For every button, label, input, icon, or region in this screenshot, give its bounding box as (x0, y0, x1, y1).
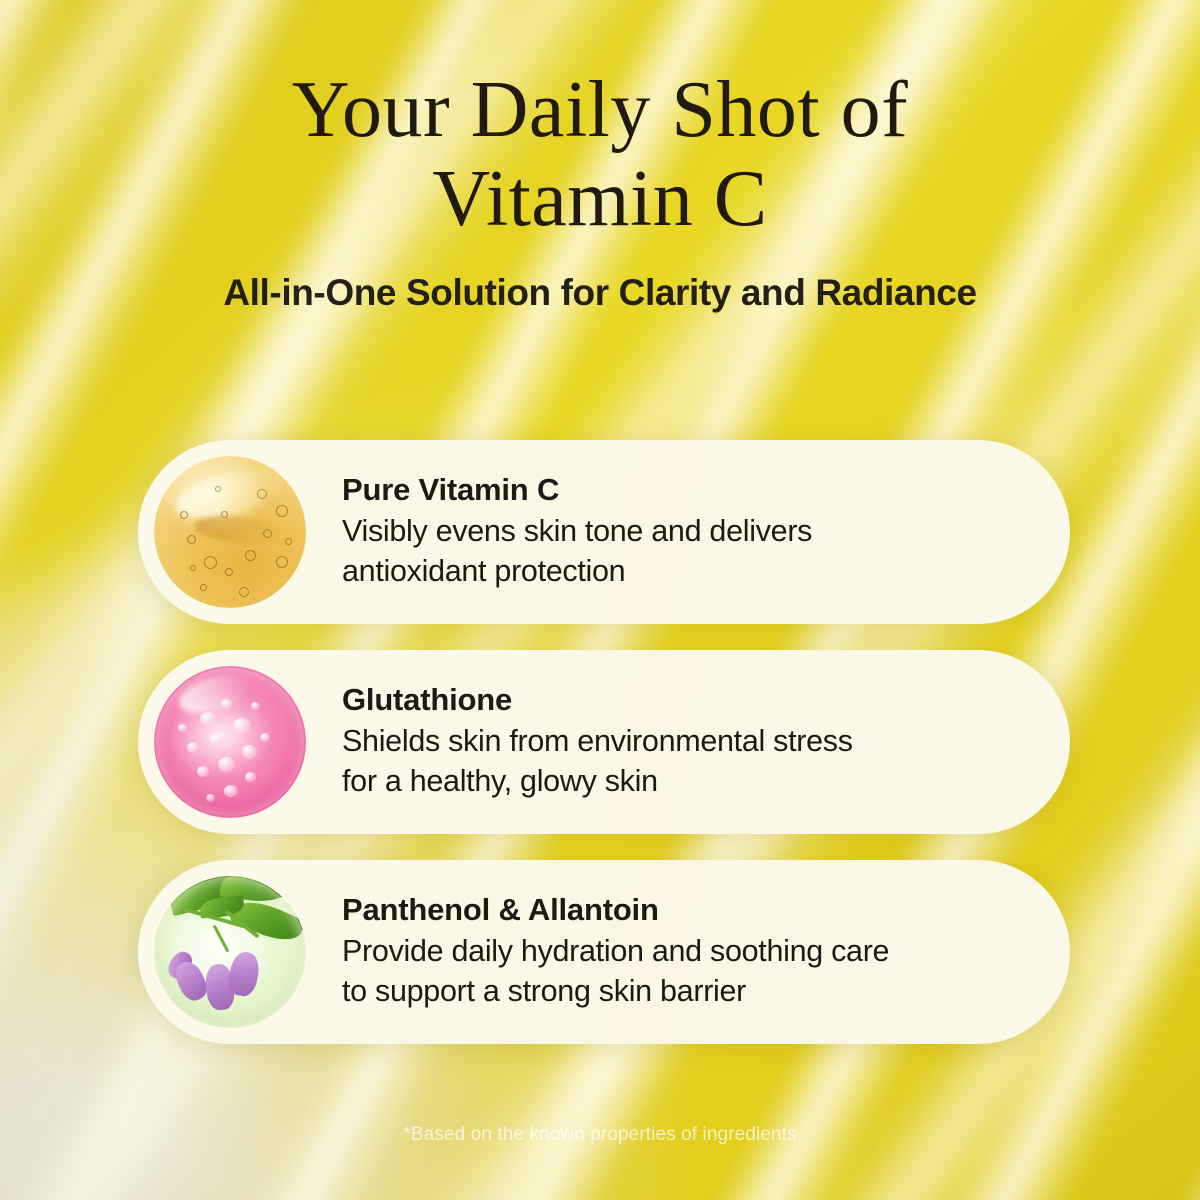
title-line-2: Vitamin C (0, 161, 1200, 238)
footnote-disclaimer: *Based on the known properties of ingred… (0, 1124, 1200, 1146)
feature-description: Visibly evens skin tone and delivers ant… (342, 512, 812, 591)
feature-text-block: Pure Vitamin C Visibly evens skin tone a… (342, 472, 848, 591)
comfrey-botanical-icon (154, 876, 306, 1028)
vitamin-c-gel-icon (154, 456, 306, 608)
feature-card-glutathione[interactable]: Glutathione Shields skin from environmen… (138, 650, 1070, 834)
feature-title: Glutathione (342, 682, 853, 718)
page-title: Your Daily Shot of Vitamin C (0, 0, 1200, 238)
feature-card-panthenol-allantoin[interactable]: Panthenol & Allantoin Provide daily hydr… (138, 860, 1070, 1044)
feature-description: Shields skin from environmental stress f… (342, 722, 853, 801)
feature-text-block: Glutathione Shields skin from environmen… (342, 682, 889, 801)
title-line-1: Your Daily Shot of (292, 66, 909, 154)
feature-card-pure-vitamin-c[interactable]: Pure Vitamin C Visibly evens skin tone a… (138, 440, 1070, 624)
feature-title: Panthenol & Allantoin (342, 892, 889, 928)
feature-title: Pure Vitamin C (342, 472, 812, 508)
feature-description: Provide daily hydration and soothing car… (342, 932, 889, 1011)
glutathione-droplet-icon (154, 666, 306, 818)
poster-canvas: Your Daily Shot of Vitamin C All-in-One … (0, 0, 1200, 1200)
header: Your Daily Shot of Vitamin C All-in-One … (0, 0, 1200, 314)
feature-card-list: Pure Vitamin C Visibly evens skin tone a… (138, 440, 1098, 1070)
feature-text-block: Panthenol & Allantoin Provide daily hydr… (342, 892, 925, 1011)
page-subtitle: All-in-One Solution for Clarity and Radi… (0, 272, 1200, 314)
